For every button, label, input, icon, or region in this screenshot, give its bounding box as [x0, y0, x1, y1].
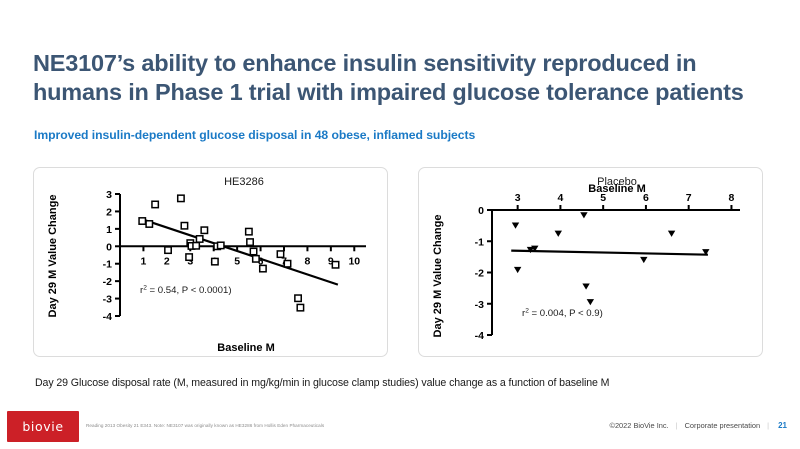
- footer-separator-2: |: [760, 421, 776, 430]
- x-tick-label: 1: [141, 255, 147, 267]
- page-number: 21: [776, 421, 787, 430]
- y-tick-label: 2: [106, 206, 112, 218]
- footnote-reference: Reading 2013 Obesity 21 E343. Note: NE31…: [86, 423, 324, 428]
- x-tick-label: 2: [164, 255, 170, 267]
- y-tick-label: 1: [106, 224, 112, 236]
- data-point: [297, 304, 303, 310]
- data-point: [284, 261, 290, 267]
- y-tick-label: -1: [103, 259, 112, 271]
- y-tick-label: -4: [475, 330, 484, 342]
- stat-annotation: r2 = 0.54, P < 0.0001): [140, 284, 232, 296]
- x-tick-label: 7: [686, 192, 692, 204]
- chart-panel-placebo: Placebo3456780-1-2-3-4Baseline MDay 29 M…: [418, 167, 763, 357]
- biovie-logo: biovie: [7, 411, 79, 442]
- data-point: [580, 212, 587, 218]
- y-tick-label: 0: [478, 205, 484, 217]
- data-point: [250, 248, 256, 254]
- data-point: [186, 254, 192, 260]
- stat-annotation: r2 = 0.004, P < 0.9): [522, 307, 603, 319]
- data-point: [218, 242, 224, 248]
- footer-meta: ©2022 BioVie Inc. | Corporate presentati…: [610, 421, 788, 430]
- data-point: [555, 231, 562, 237]
- y-tick-label: -2: [103, 276, 112, 288]
- data-point: [146, 221, 152, 227]
- y-tick-label: -3: [103, 294, 112, 306]
- data-point: [246, 228, 252, 234]
- slide-footer: biovie Reading 2013 Obesity 21 E343. Not…: [0, 406, 800, 449]
- data-point: [139, 218, 145, 224]
- x-axis-label: Baseline M: [588, 183, 645, 195]
- scatter-chart-placebo: Placebo3456780-1-2-3-4Baseline MDay 29 M…: [419, 168, 762, 356]
- copyright-text: ©2022 BioVie Inc.: [610, 421, 669, 430]
- figure-caption: Day 29 Glucose disposal rate (M, measure…: [35, 377, 609, 389]
- data-point: [201, 227, 207, 233]
- x-tick-label: 3: [515, 192, 521, 204]
- chart-panel-he3286: HE3286123456789103210-1-2-3-4Baseline MD…: [33, 167, 388, 357]
- data-point: [152, 201, 158, 207]
- data-point: [196, 236, 202, 242]
- x-axis-label: Baseline M: [217, 342, 274, 354]
- scatter-chart-he3286: HE3286123456789103210-1-2-3-4Baseline MD…: [34, 168, 387, 356]
- slide: NE3107’s ability to enhance insulin sens…: [0, 0, 800, 449]
- data-point: [165, 247, 171, 253]
- x-tick-label: 10: [348, 255, 360, 267]
- data-point: [193, 243, 199, 249]
- y-tick-label: -3: [475, 299, 484, 311]
- data-point: [212, 258, 218, 264]
- page-title: NE3107’s ability to enhance insulin sens…: [33, 49, 778, 107]
- x-tick-label: 4: [557, 192, 563, 204]
- y-tick-label: 0: [106, 241, 112, 253]
- data-point: [512, 223, 519, 229]
- data-point: [640, 257, 647, 263]
- x-tick-label: 8: [729, 192, 735, 204]
- data-point: [178, 195, 184, 201]
- deck-name: Corporate presentation: [685, 421, 761, 430]
- data-point: [277, 251, 283, 257]
- y-axis-label: Day 29 M Value Change: [47, 195, 59, 318]
- page-subtitle: Improved insulin-dependent glucose dispo…: [34, 128, 475, 142]
- data-point: [332, 262, 338, 268]
- y-tick-label: -4: [103, 311, 112, 323]
- regression-line: [511, 251, 708, 255]
- footer-separator-1: |: [669, 421, 685, 430]
- data-point: [181, 223, 187, 229]
- data-point: [253, 256, 259, 262]
- chart-title: HE3286: [224, 176, 264, 188]
- y-tick-label: 3: [106, 189, 112, 201]
- data-point: [582, 283, 589, 289]
- data-point: [587, 299, 594, 305]
- data-point: [514, 267, 521, 273]
- y-axis-label: Day 29 M Value Change: [432, 215, 444, 338]
- x-tick-label: 8: [305, 255, 311, 267]
- data-point: [260, 265, 266, 271]
- data-point: [295, 295, 301, 301]
- y-tick-label: -2: [475, 268, 484, 280]
- data-point: [247, 239, 253, 245]
- x-tick-label: 5: [234, 255, 240, 267]
- y-tick-label: -1: [475, 236, 484, 248]
- data-point: [668, 231, 675, 237]
- logo-text: biovie: [7, 411, 79, 442]
